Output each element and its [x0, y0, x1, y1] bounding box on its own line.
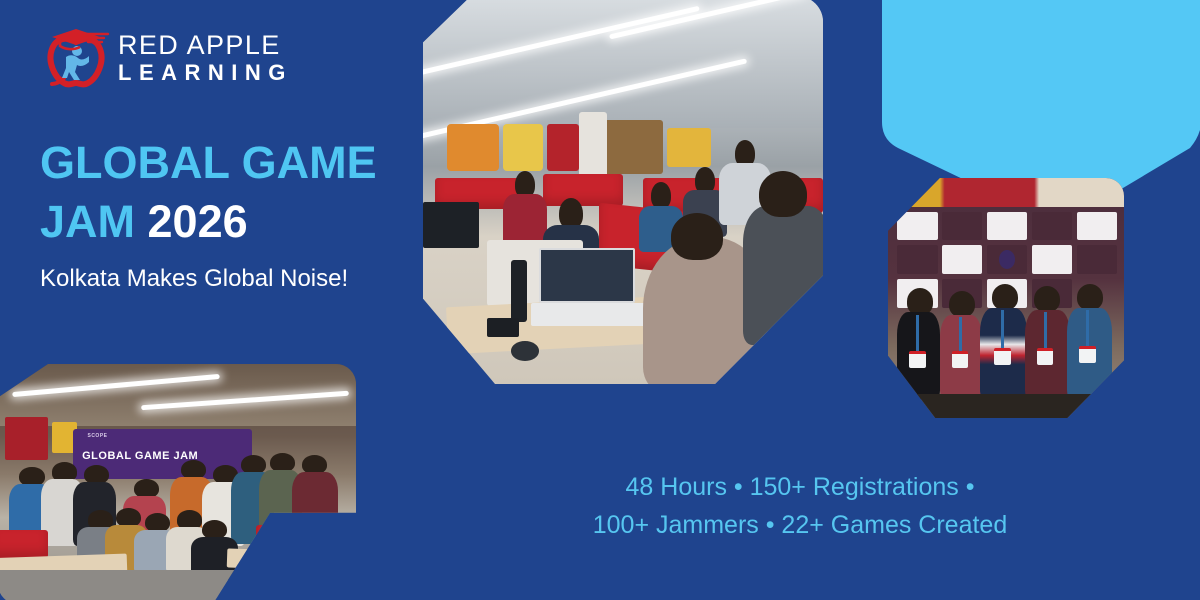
brand-logo[interactable]: RED APPLE LEARNING — [42, 26, 272, 90]
side-monitor — [423, 202, 479, 249]
backdrop-scene — [888, 178, 1124, 418]
office-ceiling — [423, 0, 823, 128]
badge-5 — [1079, 346, 1096, 363]
attendee-head-1 — [907, 288, 933, 314]
group-body-9 — [292, 472, 339, 544]
sponsor-tile-4 — [1032, 212, 1072, 241]
wall-panel-gold — [667, 128, 711, 167]
group-photo-scene: SCOPE GLOBAL GAME JAM — [0, 364, 356, 600]
badge-4 — [1037, 348, 1054, 365]
photo-jam-workspace — [423, 0, 823, 384]
stats-line-1: 48 Hours • 150+ Registrations • — [430, 468, 1170, 506]
lanyard-4 — [1044, 312, 1047, 350]
wall-mural — [603, 120, 663, 174]
logo-wordmark: RED APPLE LEARNING — [118, 30, 293, 86]
stats-line-2: 100+ Jammers • 22+ Games Created — [430, 506, 1170, 544]
badge-2 — [952, 351, 969, 368]
attendee-head-2 — [949, 291, 975, 317]
workspace-scene — [423, 0, 823, 384]
lanyard-1 — [916, 315, 919, 353]
venue-wall-red — [5, 417, 48, 460]
wall-panel-yellow — [503, 124, 543, 171]
attendee-head-5 — [1077, 284, 1103, 310]
wall-panel-red — [547, 124, 579, 171]
sponsor-tile-10 — [1077, 245, 1117, 274]
sponsor-tile-7 — [942, 245, 982, 274]
wall-panel-orange — [447, 124, 499, 171]
headline-accent-2: JAM — [40, 196, 135, 247]
cubicle-panel-2 — [543, 174, 623, 205]
lanyard-3 — [1001, 310, 1004, 351]
sponsor-tile-2 — [942, 212, 982, 241]
banner-brand: SCOPE — [87, 433, 107, 439]
headline-accent-1: GLOBAL GAME — [40, 137, 377, 188]
venue-cubicle-right — [256, 525, 320, 556]
apple-graduation-cap-icon — [42, 26, 110, 88]
photo-group-banner: SCOPE GLOBAL GAME JAM — [0, 364, 356, 600]
sponsor-tile-5 — [1077, 212, 1117, 241]
badge-3 — [994, 348, 1011, 365]
computer-mouse — [511, 341, 539, 360]
banner-title: GLOBAL GAME JAM — [82, 450, 198, 462]
logo-line-1: RED APPLE — [118, 30, 293, 60]
sponsor-tile-3 — [987, 212, 1027, 241]
attendee-head-4 — [1034, 286, 1060, 312]
phone-on-desk — [487, 318, 519, 337]
sponsor-tile-1 — [897, 212, 937, 241]
wall-pillar — [579, 112, 607, 182]
logo-line-2: LEARNING — [118, 60, 293, 86]
headline-line-2: JAM 2026 — [40, 192, 440, 251]
venue-cubicle-left — [0, 530, 48, 559]
headline-year: 2026 — [148, 196, 248, 247]
lanyard-2 — [959, 317, 962, 353]
sponsor-tile-9 — [1032, 245, 1072, 274]
venue-desk-right — [227, 549, 356, 573]
foreground-person-2 — [743, 206, 823, 346]
backdrop-floor — [888, 394, 1124, 418]
laptop-screen — [539, 248, 635, 302]
attendee-head-3 — [992, 284, 1018, 310]
sponsor-tile-6 — [897, 245, 937, 274]
foreground-person-2-head — [759, 171, 807, 218]
headline-line-1: GLOBAL GAME — [40, 133, 440, 192]
foreground-person-head — [671, 213, 723, 260]
headline-tagline: Kolkata Makes Global Noise! — [40, 264, 440, 294]
photo-team-backdrop — [888, 178, 1124, 418]
badge-1 — [909, 351, 926, 368]
poster-canvas: RED APPLE LEARNING GLOBAL GAME JAM 2026 … — [0, 0, 1200, 600]
speaker-tower — [511, 260, 527, 322]
laptop-keyboard — [531, 303, 647, 326]
event-stats: 48 Hours • 150+ Registrations • 100+ Jam… — [430, 468, 1170, 544]
venue-floor — [0, 570, 356, 600]
headline-block: GLOBAL GAME JAM 2026 Kolkata Makes Globa… — [40, 133, 440, 294]
lanyard-5 — [1086, 310, 1089, 348]
